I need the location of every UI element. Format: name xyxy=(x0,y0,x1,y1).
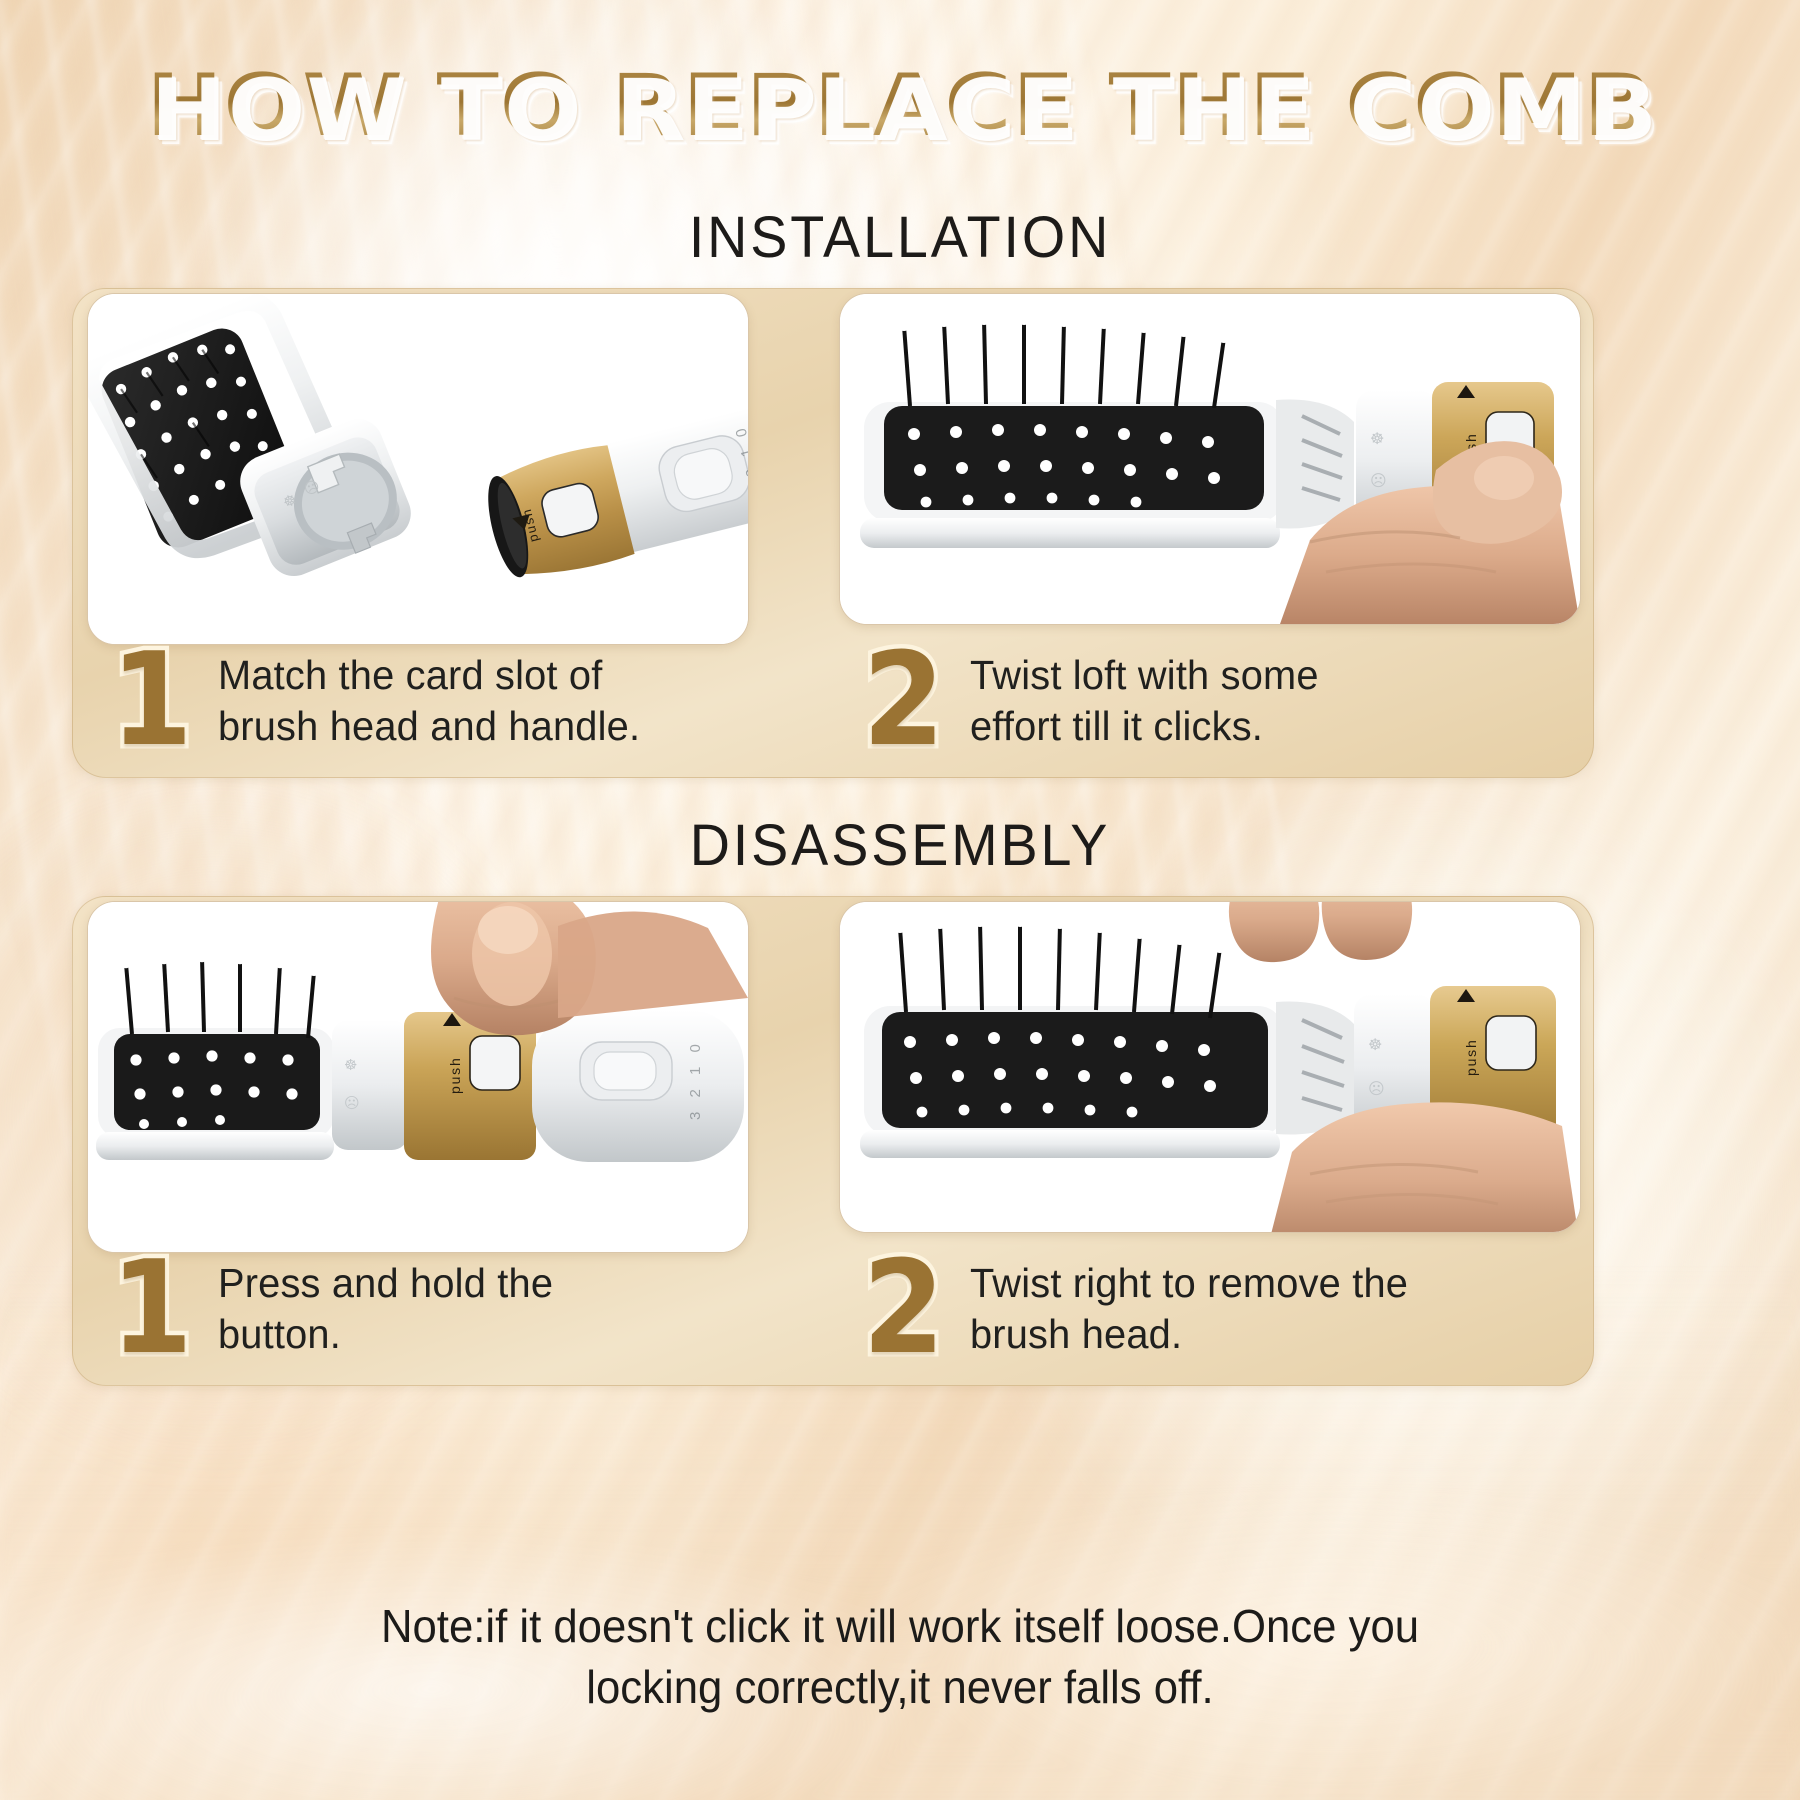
section-heading-installation: INSTALLATION xyxy=(36,204,1764,271)
step-text: Twist right to remove the brush head. xyxy=(970,1258,1408,1361)
step-number: 1 xyxy=(111,647,193,755)
step-text: Match the card slot of brush head and ha… xyxy=(218,650,640,753)
installation-panel-group: ☸ ☹ xyxy=(72,288,1594,778)
step-text: Twist loft with some effort till it clic… xyxy=(970,650,1319,753)
installation-step-2-caption: 2 Twist loft with some effort till it cl… xyxy=(859,647,1330,755)
installation-step-1-photo: ☸ ☹ xyxy=(87,293,749,645)
section-heading-disassembly: DISASSEMBLY xyxy=(36,812,1764,879)
svg-text:☹: ☹ xyxy=(1368,1079,1385,1098)
photo-hand-twisting-brush: ☸ ☹ push xyxy=(840,294,1580,624)
disassembly-step-1-caption: 1 Press and hold the button. xyxy=(107,1255,564,1363)
step-number: 2 xyxy=(863,1255,945,1363)
push-label-4: push xyxy=(1463,1038,1479,1076)
footer-note: Note:if it doesn't click it will work it… xyxy=(131,1596,1670,1717)
photo-hand-removing-brush: ☸ ☹ push xyxy=(840,902,1580,1232)
page-title: HOW TO REPLACE THE COMB xyxy=(146,56,1654,156)
installation-step-1-caption: 1 Match the card slot of brush head and … xyxy=(107,647,653,755)
disassembly-step-2-photo: ☸ ☹ push xyxy=(839,901,1581,1233)
svg-text:☸: ☸ xyxy=(344,1056,357,1074)
svg-text:☸: ☸ xyxy=(1370,429,1384,448)
photo-thumb-pressing-button: ☸ ☹ push xyxy=(88,902,748,1252)
speed-settings-label-2: 3 2 1 0 xyxy=(687,1039,704,1120)
installation-step-2-photo: ☸ ☹ push xyxy=(839,293,1581,625)
svg-text:☹: ☹ xyxy=(1370,471,1387,490)
disassembly-step-1-photo: ☸ ☹ push xyxy=(87,901,749,1253)
step-number: 2 xyxy=(863,647,945,755)
svg-text:☸: ☸ xyxy=(1368,1035,1382,1054)
svg-text:☹: ☹ xyxy=(344,1094,360,1112)
disassembly-panel-group: ☸ ☹ push xyxy=(72,896,1594,1386)
push-label-3: push xyxy=(447,1056,463,1094)
disassembly-step-2-caption: 2 Twist right to remove the brush head. xyxy=(859,1255,1422,1363)
step-text: Press and hold the button. xyxy=(218,1258,553,1361)
photo-brush-head-and-handle: ☸ ☹ xyxy=(88,294,748,644)
step-number: 1 xyxy=(111,1255,193,1363)
title-container: HOW TO REPLACE THE COMB xyxy=(0,56,1800,156)
